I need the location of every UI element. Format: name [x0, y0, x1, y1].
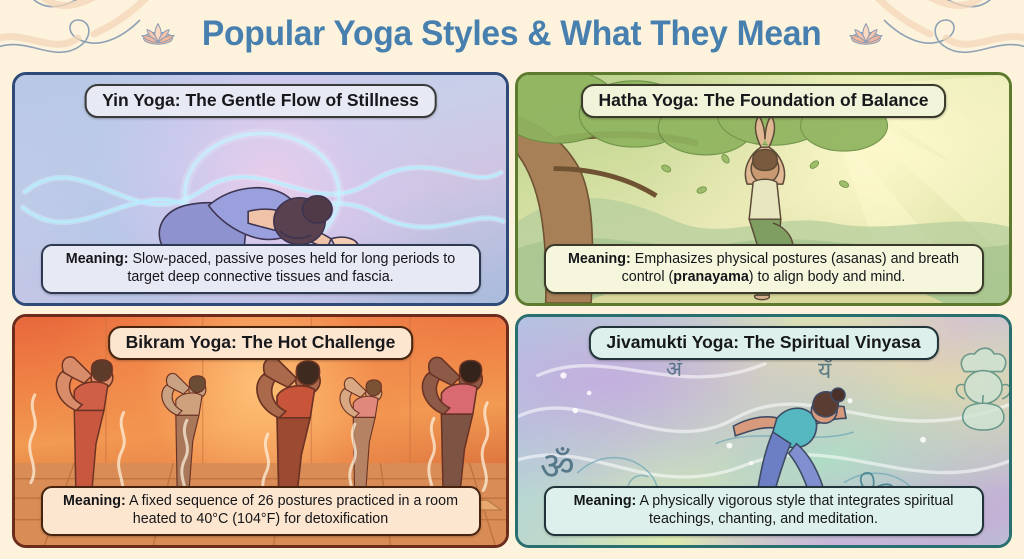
card-title-hatha: Hatha Yoga: The Foundation of Balance: [581, 84, 947, 118]
lotus-icon: [141, 21, 175, 47]
card-meaning-jivamukti: Meaning: A physically vigorous style tha…: [544, 486, 984, 536]
meaning-label: Meaning:: [568, 251, 631, 267]
card-bikram-yoga[interactable]: Bikram Yoga: The Hot Challenge Meaning: …: [12, 314, 509, 548]
yoga-style-card-grid: Yin Yoga: The Gentle Flow of Stillness M…: [12, 72, 1012, 548]
page-title: Popular Yoga Styles & What They Mean: [202, 14, 821, 54]
page-header: Popular Yoga Styles & What They Mean: [0, 0, 1024, 68]
lotus-icon: [849, 21, 883, 47]
meaning-text: A physically vigorous style that integra…: [636, 493, 953, 526]
card-title-jivamukti: Jivamukti Yoga: The Spiritual Vinyasa: [588, 326, 938, 360]
card-meaning-yin: Meaning: Slow-paced, passive poses held …: [41, 244, 481, 294]
meaning-label: Meaning:: [574, 493, 637, 509]
meaning-text: A fixed sequence of 26 postures practice…: [126, 493, 458, 526]
meaning-label: Meaning:: [66, 251, 129, 267]
card-yin-yoga[interactable]: Yin Yoga: The Gentle Flow of Stillness M…: [12, 72, 509, 306]
meaning-text-suffix: ) to align body and mind.: [749, 269, 906, 285]
card-title-yin: Yin Yoga: The Gentle Flow of Stillness: [84, 84, 437, 118]
card-meaning-hatha: Meaning: Emphasizes physical postures (a…: [544, 244, 984, 294]
card-jivamukti-yoga[interactable]: ॐ अं यँ Jivamukti Yoga: The Spiritual Vi…: [515, 314, 1012, 548]
meaning-text: Slow-paced, passive poses held for long …: [127, 251, 455, 284]
header-flourish-left: [0, 0, 224, 68]
card-title-bikram: Bikram Yoga: The Hot Challenge: [108, 326, 414, 360]
card-hatha-yoga[interactable]: Hatha Yoga: The Foundation of Balance Me…: [515, 72, 1012, 306]
om-symbol-glyph: ॐ: [540, 439, 575, 491]
meaning-label: Meaning:: [63, 493, 126, 509]
card-meaning-bikram: Meaning: A fixed sequence of 26 postures…: [41, 486, 481, 536]
header-flourish-right: [800, 0, 1024, 68]
meaning-text-bold: pranayama: [673, 269, 749, 285]
